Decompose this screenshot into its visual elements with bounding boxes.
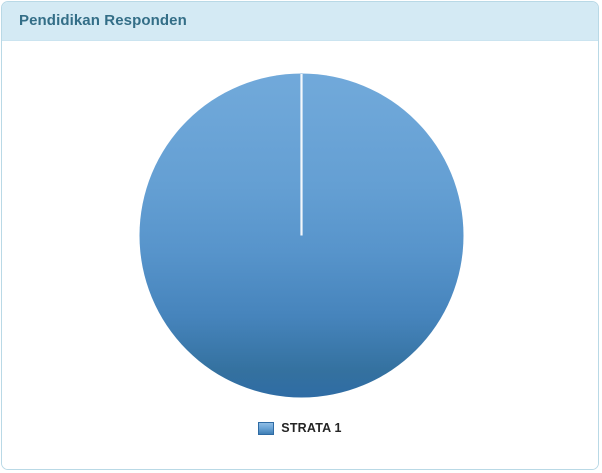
legend-swatch-icon [258,422,274,435]
pie-canvas [139,73,464,398]
pie-svg [139,73,464,398]
pie-chart: STRATA 1 [2,41,598,470]
legend-item[interactable]: STRATA 1 [258,421,341,435]
card-body: STRATA 1 [2,41,598,470]
chart-legend: STRATA 1 [2,421,598,435]
page-title: Pendidikan Responden [19,12,187,29]
card-header: Pendidikan Responden [2,2,598,41]
chart-card: Pendidikan Responden [1,1,599,470]
legend-item-label: STRATA 1 [281,421,341,435]
